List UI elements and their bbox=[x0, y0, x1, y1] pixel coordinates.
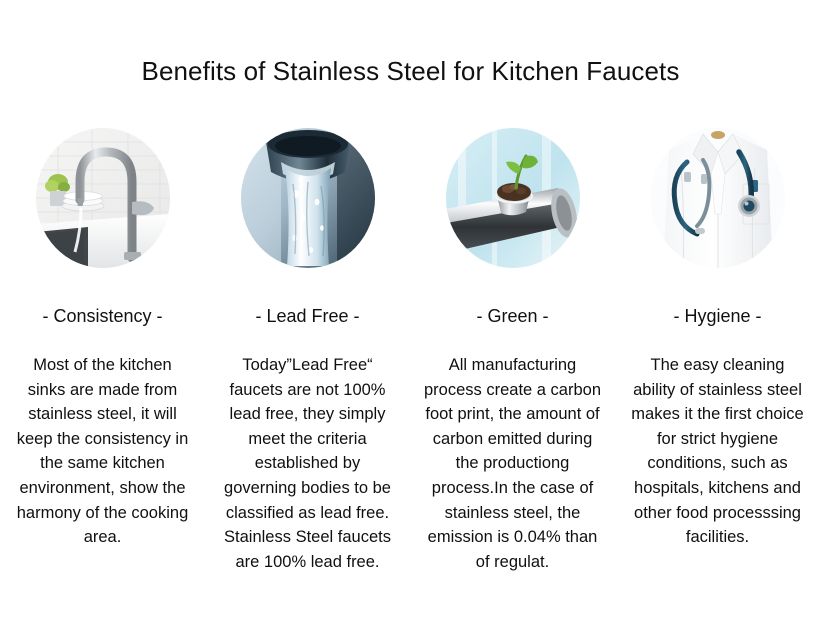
column-heading: - Lead Free - bbox=[255, 306, 359, 327]
running-water-photo bbox=[241, 128, 375, 268]
column-heading: - Hygiene - bbox=[673, 306, 761, 327]
benefit-column-green: - Green - All manufacturing process crea… bbox=[410, 128, 615, 574]
column-body-text: The easy cleaning ability of stainless s… bbox=[628, 353, 808, 550]
lab-coat-stethoscope-photo bbox=[651, 128, 785, 268]
green-sprout-on-steel-pipe-photo bbox=[446, 128, 580, 268]
column-body-text: All manufacturing process create a carbo… bbox=[424, 353, 602, 574]
page-title: Benefits of Stainless Steel for Kitchen … bbox=[0, 56, 821, 87]
column-body-text: Most of the kitchen sinks are made from … bbox=[14, 353, 192, 550]
column-heading: - Green - bbox=[476, 306, 548, 327]
column-body-text: Today”Lead Free“ faucets are not 100% le… bbox=[220, 353, 396, 574]
benefit-column-lead-free: - Lead Free - Today”Lead Free“ faucets a… bbox=[205, 128, 410, 574]
column-heading: - Consistency - bbox=[42, 306, 162, 327]
benefit-column-consistency: - Consistency - Most of the kitchen sink… bbox=[0, 128, 205, 550]
kitchen-faucet-photo bbox=[36, 128, 170, 268]
benefit-column-hygiene: - Hygiene - The easy cleaning ability of… bbox=[615, 128, 820, 550]
benefit-columns: - Consistency - Most of the kitchen sink… bbox=[0, 128, 821, 574]
infographic-page: Benefits of Stainless Steel for Kitchen … bbox=[0, 0, 821, 628]
